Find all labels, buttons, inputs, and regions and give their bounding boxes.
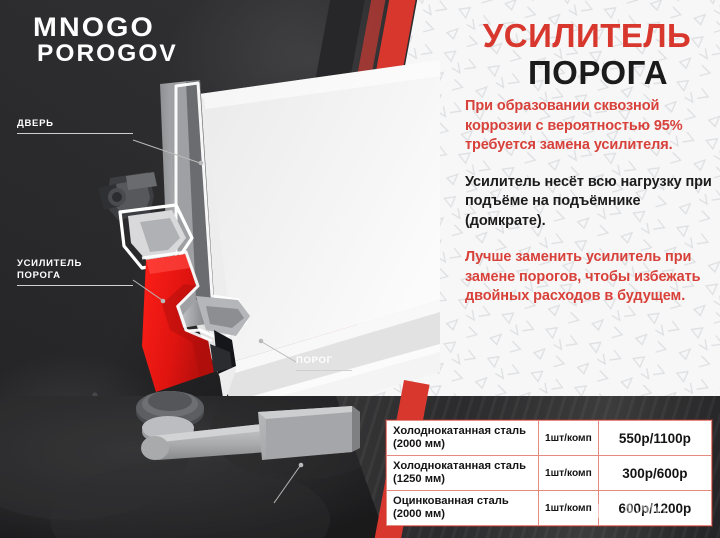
callout-sill: ПОРОГ: [296, 355, 352, 371]
callout-sill-label: ПОРОГ: [296, 355, 352, 367]
table-row: Холоднокатанная сталь (1250 мм) 1шт/комп…: [387, 456, 712, 491]
callout-door-label: ДВЕРЬ: [17, 118, 133, 130]
row-0-qty: 1шт/комп: [539, 421, 599, 456]
callout-door-rule: [17, 133, 133, 134]
row-1-qty: 1шт/комп: [539, 456, 599, 491]
table-row: Оцинкованная сталь (2000 мм) 1шт/комп 60…: [387, 491, 712, 526]
row-2-price: 600р/1200р: [598, 491, 711, 526]
price-table: Холоднокатанная сталь (2000 мм) 1шт/комп…: [386, 420, 712, 526]
callout-door: ДВЕРЬ: [17, 118, 133, 134]
callout-reinforcement: УСИЛИТЕЛЬ ПОРОГА: [17, 258, 133, 286]
table-row: Холоднокатанная сталь (2000 мм) 1шт/комп…: [387, 421, 712, 456]
poster-canvas: MNOGO POROGOV: [0, 0, 720, 538]
paragraph-load: Усилитель несёт всю нагрузку при подъёме…: [465, 173, 713, 232]
body-copy: При образовании сквозной коррозии с веро…: [465, 97, 713, 307]
callout-reinforcement-rule: [17, 285, 133, 286]
row-1-name: Холоднокатанная сталь (1250 мм): [387, 456, 539, 491]
paragraph-corrosion: При образовании сквозной коррозии с веро…: [465, 97, 713, 156]
row-2-qty: 1шт/комп: [539, 491, 599, 526]
row-0-name: Холоднокатанная сталь (2000 мм): [387, 421, 539, 456]
headline-line-2: ПОРОГА: [484, 54, 712, 91]
headline: УСИЛИТЕЛЬ ПОРОГА: [462, 17, 712, 91]
headline-line-1: УСИЛИТЕЛЬ: [462, 17, 712, 54]
callout-reinforcement-label: УСИЛИТЕЛЬ ПОРОГА: [17, 258, 133, 282]
row-1-price: 300р/600р: [598, 456, 711, 491]
row-2-name: Оцинкованная сталь (2000 мм): [387, 491, 539, 526]
row-0-price: 550р/1100р: [598, 421, 711, 456]
callout-sill-rule: [296, 370, 352, 371]
paragraph-advice: Лучше заменить усилитель при замене поро…: [465, 248, 713, 307]
